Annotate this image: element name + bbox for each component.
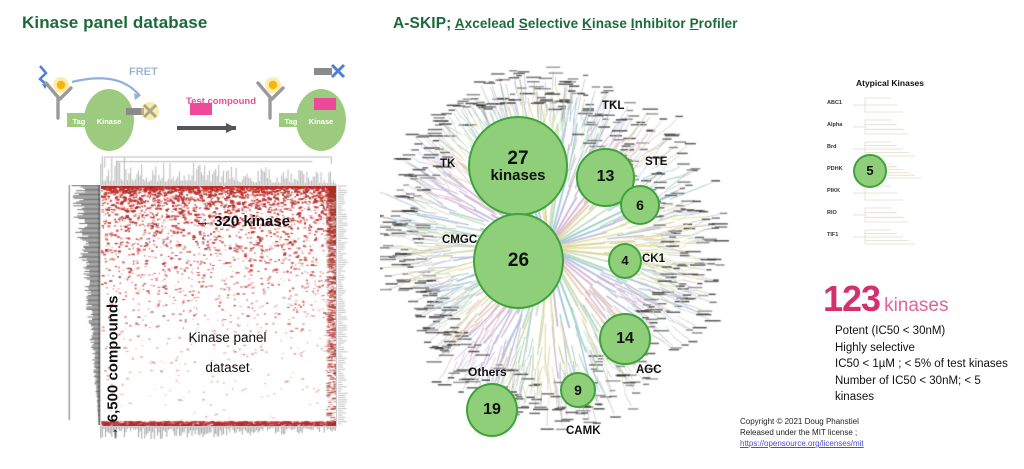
group-label-camk: CAMK: [566, 425, 601, 437]
atypical-family-name: ABC1: [827, 100, 842, 106]
dendrogram-left: [68, 185, 100, 425]
heatmap-top-axis-label: → 320 kinase: [195, 213, 290, 230]
title-word-k: Kinase: [578, 16, 627, 31]
bubble-tk[interactable]: 27 kinases: [468, 116, 568, 216]
group-label-tkl: TKL: [602, 100, 624, 112]
bubble-others-count: 19: [483, 402, 501, 418]
dendrogram-bottom: [100, 426, 336, 442]
total-kinases-number: 123: [823, 278, 880, 319]
bubble-atypical[interactable]: 5: [853, 154, 887, 188]
left-panel: Tag Kinase Tag Kinase FRET Test compound…: [0, 40, 380, 466]
fret-label: FRET: [129, 66, 158, 78]
tag-label: Tag: [73, 117, 86, 126]
bubble-camk[interactable]: 9: [560, 372, 596, 408]
atypical-family-row: PIKK: [825, 182, 955, 204]
heatmap-side-ticks: [337, 185, 351, 425]
license-link[interactable]: https://opensource.org/licenses/mit: [740, 438, 864, 449]
atypical-family-row: TIF1: [825, 226, 955, 248]
atypical-family-name: Alpha: [827, 122, 842, 128]
page-title-left: Kinase panel database: [22, 13, 207, 33]
side-axis-text: 6,500 compounds: [105, 296, 122, 423]
tag-label-right: Tag: [285, 117, 298, 126]
bubble-ck1-count: 4: [621, 254, 628, 267]
donor-fluorophore-icon-right: [265, 77, 281, 93]
group-label-others: Others: [468, 365, 507, 379]
atypical-family-row: ABC1: [825, 94, 955, 116]
title-acronym: A-SKIP;: [393, 15, 451, 32]
bubble-tkl-count: 13: [597, 169, 615, 185]
criteria-line-1: Potent (IC50 < 30nM): [835, 323, 1024, 340]
title-word-i: Inhibitor: [627, 16, 686, 31]
total-kinases-stat: 123kinases: [823, 278, 949, 320]
atypical-family-name: PDHK: [827, 166, 843, 172]
displaced-tracer-bar: [314, 68, 332, 75]
bubble-tk-count: 27: [507, 149, 528, 168]
copyright-block: Copyright © 2021 Doug Phanstiel Released…: [740, 416, 864, 449]
criteria-list: Potent (IC50 < 30nM)Highly selectiveIC50…: [835, 323, 1024, 406]
title-word-p: Profiler: [686, 16, 738, 31]
bubble-ck1[interactable]: 4: [608, 243, 642, 279]
bound-compound-box: [314, 98, 336, 110]
atypical-kinases-title: Atypical Kinases: [825, 78, 955, 88]
fret-assay-diagram: Tag Kinase Tag Kinase FRET Test compound: [14, 58, 364, 153]
page-title-right: A-SKIP; Axcelead Selective Kinase Inhibi…: [393, 15, 738, 33]
atypical-family-row: Brd: [825, 138, 955, 160]
atypical-family-name: PIKK: [827, 188, 840, 194]
total-kinases-unit: kinases: [884, 295, 948, 316]
atypical-family-name: RIO: [827, 210, 837, 216]
bubble-ste[interactable]: 6: [620, 185, 660, 225]
heatmap-side-axis-label: → 6,500 compounds: [105, 269, 122, 469]
displaced-acceptor-icon: [332, 65, 344, 77]
atypical-family-row: PDHK: [825, 160, 955, 182]
arrow-right-icon: →: [195, 213, 210, 230]
heatmap-center-caption: Kinase panel dataset: [145, 323, 310, 383]
center-caption-line2: dataset: [145, 353, 310, 383]
slide-root: Kinase panel database A-SKIP; Axcelead S…: [0, 0, 1024, 466]
arrow-up-icon: →: [105, 426, 122, 441]
group-label-ste: STE: [645, 156, 667, 168]
criteria-line-5: kinases: [835, 389, 1024, 406]
criteria-line-3: IC50 < 1µM ; < 5% of test kinases: [835, 356, 1024, 373]
atypical-family-row: Alpha: [825, 116, 955, 138]
group-label-ck1: CK1: [642, 253, 665, 265]
atypical-family-dendrogram: [851, 95, 955, 115]
atypical-kinases-block: Atypical Kinases ABC1AlphaBrdPDHKPIKKRIO…: [825, 78, 955, 253]
kinase-label-right: Kinase: [309, 117, 334, 126]
atypical-family-rows: ABC1AlphaBrdPDHKPIKKRIOTIF1: [825, 94, 955, 252]
top-axis-text: 320 kinase: [214, 213, 290, 230]
center-caption-line1: Kinase panel: [145, 323, 310, 353]
right-panel: 27 kinases TK 26 CMGC 13 TKL 6 STE 4 CK1…: [380, 38, 1024, 466]
group-label-agc: AGC: [636, 364, 662, 376]
atypical-family-row: RIO: [825, 204, 955, 226]
atypical-family-name: TIF1: [827, 232, 838, 238]
atypical-family-dendrogram: [851, 205, 955, 225]
kinase-label: Kinase: [97, 117, 122, 126]
group-label-tk: TK: [440, 158, 455, 170]
test-compound-label: Test compound: [186, 96, 256, 107]
bubble-cmgc-count: 26: [508, 251, 529, 270]
bubble-tk-unit: kinases: [490, 168, 545, 183]
donor-fluorophore-icon: [53, 77, 69, 93]
bubble-others[interactable]: 19: [466, 383, 518, 437]
title-expansion: Axcelead Selective Kinase Inhibitor Prof…: [451, 16, 737, 31]
atypical-family-dendrogram: [851, 227, 955, 247]
bubble-agc[interactable]: 14: [599, 313, 651, 365]
group-label-cmgc: CMGC: [442, 234, 477, 246]
bubble-atypical-count: 5: [866, 164, 873, 177]
atypical-family-dendrogram: [851, 117, 955, 137]
copyright-line2: Released under the MIT license ;: [740, 427, 864, 438]
title-word-a: Axcelead: [451, 16, 514, 31]
title-word-s: Selective: [515, 16, 578, 31]
criteria-line-4: Number of IC50 < 30nM; < 5: [835, 373, 1024, 390]
atypical-family-name: Brd: [827, 144, 836, 150]
criteria-line-2: Highly selective: [835, 340, 1024, 357]
copyright-line1: Copyright © 2021 Doug Phanstiel: [740, 416, 864, 427]
bubble-cmgc[interactable]: 26: [473, 213, 564, 309]
dendrogram-top: [100, 155, 336, 185]
bubble-camk-count: 9: [574, 383, 582, 397]
bubble-agc-count: 14: [616, 331, 634, 347]
bubble-ste-count: 6: [636, 198, 644, 212]
kinase-panel-heatmap: → 320 kinase Kinase panel dataset → 6,50…: [60, 155, 360, 455]
